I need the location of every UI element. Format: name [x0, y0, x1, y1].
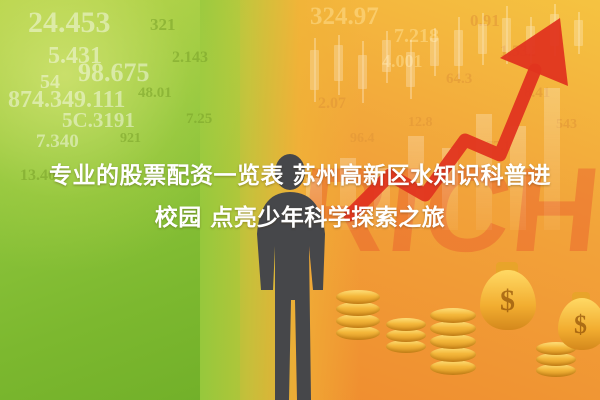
headline-line-2: 校园 点亮少年科学探索之旅: [0, 197, 600, 239]
headline-text: 专业的股票配资一览表 苏州高新区水知识科普进 校园 点亮少年科学探索之旅: [0, 155, 600, 239]
banner-image: 24.453 5.431 54 98.675 874.349.111 5C.31…: [0, 0, 600, 400]
currency-symbol: $: [574, 312, 587, 338]
gold-coin-stacks: $ $: [330, 240, 600, 400]
headline-line-1: 专业的股票配资一览表 苏州高新区水知识科普进: [0, 155, 600, 197]
currency-symbol: $: [500, 286, 515, 316]
